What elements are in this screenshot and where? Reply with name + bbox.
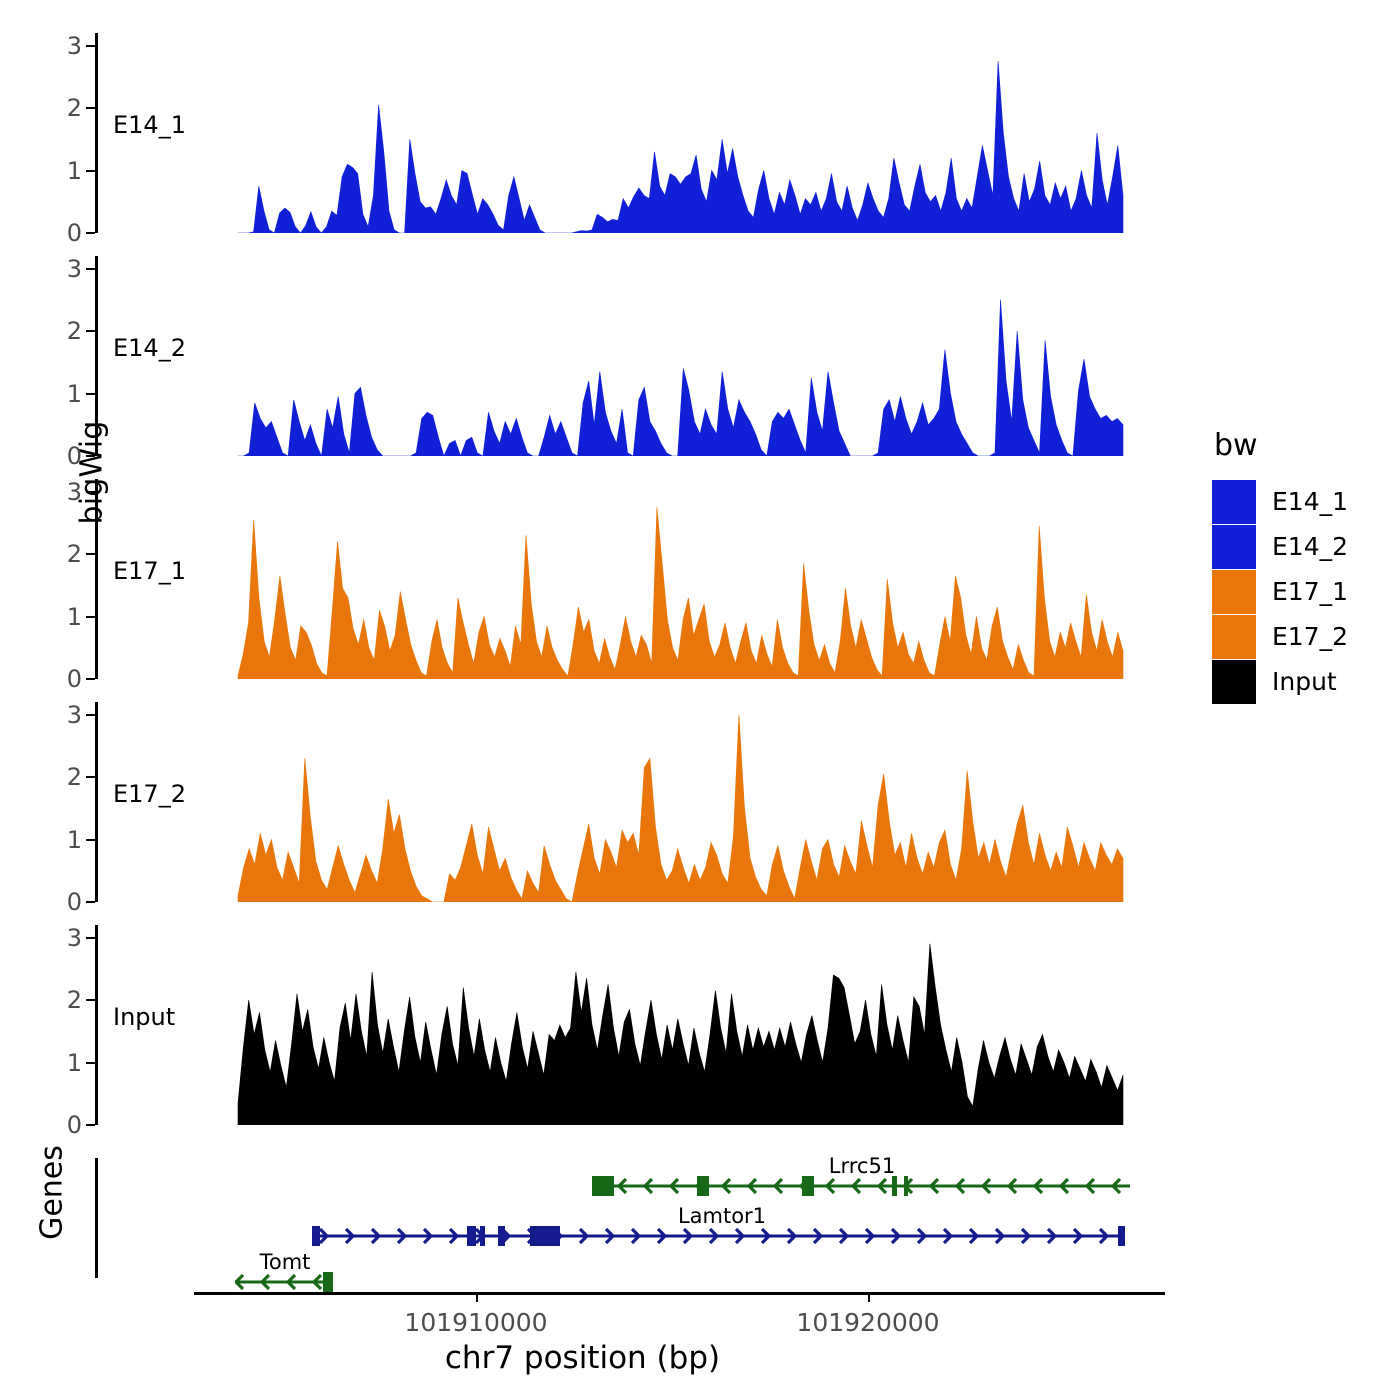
track-panel-input: 0123Input [95, 925, 1131, 1125]
genes-axis-line [95, 1158, 98, 1278]
y-tick [86, 1062, 95, 1064]
gene-label-tomt: Tomt [260, 1250, 311, 1274]
y-tick-label: 1 [67, 826, 82, 854]
y-tick-label: 3 [67, 478, 82, 506]
y-tick [86, 937, 95, 939]
y-tick-label: 2 [67, 763, 82, 791]
y-tick-label: 3 [67, 255, 82, 283]
signal-area-input [98, 925, 1131, 1125]
y-tick [86, 455, 95, 457]
track-panel-e17_1: 0123E17_1 [95, 479, 1131, 679]
x-axis-line [194, 1292, 1165, 1295]
y-tick [86, 232, 95, 234]
y-tick [86, 330, 95, 332]
legend-swatch [1212, 480, 1256, 524]
legend-title: bw [1214, 428, 1348, 463]
x-tick [476, 1292, 478, 1302]
track-panel-e14_1: 0123E14_1 [95, 33, 1131, 233]
signal-area-e17_2 [98, 702, 1131, 902]
track-panel-e14_2: 0123E14_2 [95, 256, 1131, 456]
y-tick-label: 3 [67, 924, 82, 952]
gene-label-lamtor1: Lamtor1 [678, 1204, 766, 1228]
signal-area-e14_1 [98, 33, 1131, 233]
y-tick [86, 170, 95, 172]
legend-swatch [1212, 615, 1256, 659]
y-tick-label: 1 [67, 603, 82, 631]
legend-label: E17_1 [1272, 577, 1348, 606]
y-tick [86, 107, 95, 109]
y-tick-label: 2 [67, 986, 82, 1014]
y-tick [86, 491, 95, 493]
y-tick [86, 678, 95, 680]
y-tick-label: 3 [67, 32, 82, 60]
legend-item-input[interactable]: Input [1212, 659, 1348, 704]
legend-swatch [1212, 570, 1256, 614]
y-tick-label: 0 [67, 888, 82, 916]
signal-area-e17_1 [98, 479, 1131, 679]
track-panel-e17_2: 0123E17_2 [95, 702, 1131, 902]
y-tick [86, 616, 95, 618]
y-tick-label: 2 [67, 94, 82, 122]
legend-items: E14_1E14_2E17_1E17_2Input [1212, 479, 1348, 704]
y-tick-label: 3 [67, 701, 82, 729]
y-axis-title-genes: Genes [35, 1118, 70, 1268]
legend-item-e17_2[interactable]: E17_2 [1212, 614, 1348, 659]
y-tick-label: 0 [67, 219, 82, 247]
legend-item-e17_1[interactable]: E17_1 [1212, 569, 1348, 614]
y-tick [86, 268, 95, 270]
legend-item-e14_1[interactable]: E14_1 [1212, 479, 1348, 524]
y-tick-label: 1 [67, 1049, 82, 1077]
genome-browser-figure: bigWig Genes 0123E14_10123E14_20123E17_1… [0, 0, 1400, 1400]
legend-swatch [1212, 525, 1256, 569]
y-tick-label: 2 [67, 540, 82, 568]
legend-swatch [1212, 660, 1256, 704]
y-tick [86, 839, 95, 841]
y-tick [86, 393, 95, 395]
y-tick [86, 553, 95, 555]
y-tick [86, 1124, 95, 1126]
y-tick [86, 45, 95, 47]
y-tick [86, 901, 95, 903]
y-tick [86, 714, 95, 716]
y-tick-label: 1 [67, 157, 82, 185]
y-tick [86, 999, 95, 1001]
legend-label: E14_2 [1272, 532, 1348, 561]
legend-item-e14_2[interactable]: E14_2 [1212, 524, 1348, 569]
legend-label: E14_1 [1272, 487, 1348, 516]
y-tick-label: 0 [67, 665, 82, 693]
x-tick-label: 101920000 [796, 1308, 939, 1337]
x-axis-title: chr7 position (bp) [0, 1340, 1165, 1376]
y-tick-label: 0 [67, 442, 82, 470]
legend-label: E17_2 [1272, 622, 1348, 651]
x-tick [868, 1292, 870, 1302]
gene-label-lrrc51: Lrrc51 [829, 1154, 895, 1178]
y-tick-label: 2 [67, 317, 82, 345]
y-tick-label: 0 [67, 1111, 82, 1139]
y-tick [86, 776, 95, 778]
x-tick-label: 101910000 [404, 1308, 547, 1337]
legend: bw E14_1E14_2E17_1E17_2Input [1212, 428, 1348, 704]
legend-label: Input [1272, 667, 1337, 696]
y-tick-label: 1 [67, 380, 82, 408]
signal-area-e14_2 [98, 256, 1131, 456]
